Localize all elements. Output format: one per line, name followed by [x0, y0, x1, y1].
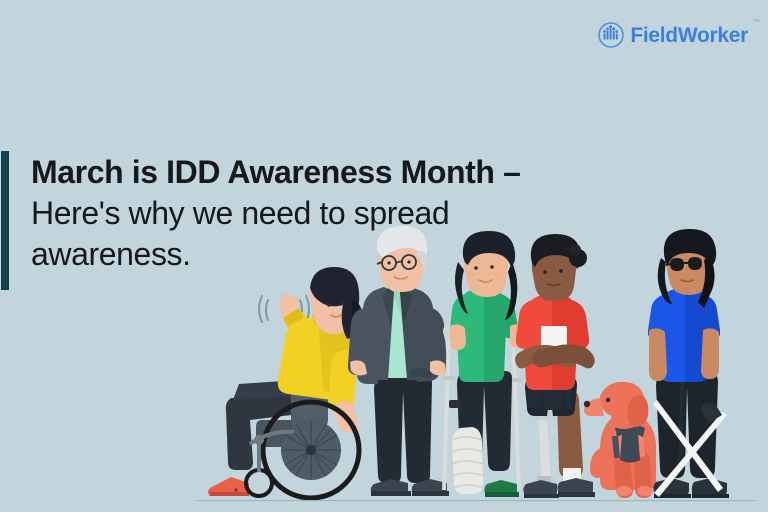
figure-service-dog	[584, 382, 656, 498]
figure-athlete-with-prosthetic-leg	[515, 234, 595, 498]
figure-blind-woman-with-cane	[648, 229, 729, 498]
hero-banner: FieldWorker ™ March is IDD Awareness Mon…	[0, 0, 768, 512]
figure-woman-with-crutches	[442, 231, 526, 497]
figure-wheelchair-user	[208, 267, 362, 498]
ground-line	[196, 500, 756, 501]
figure-older-man-with-glasses	[348, 226, 449, 496]
disability-inclusion-group-illustration	[0, 0, 768, 512]
